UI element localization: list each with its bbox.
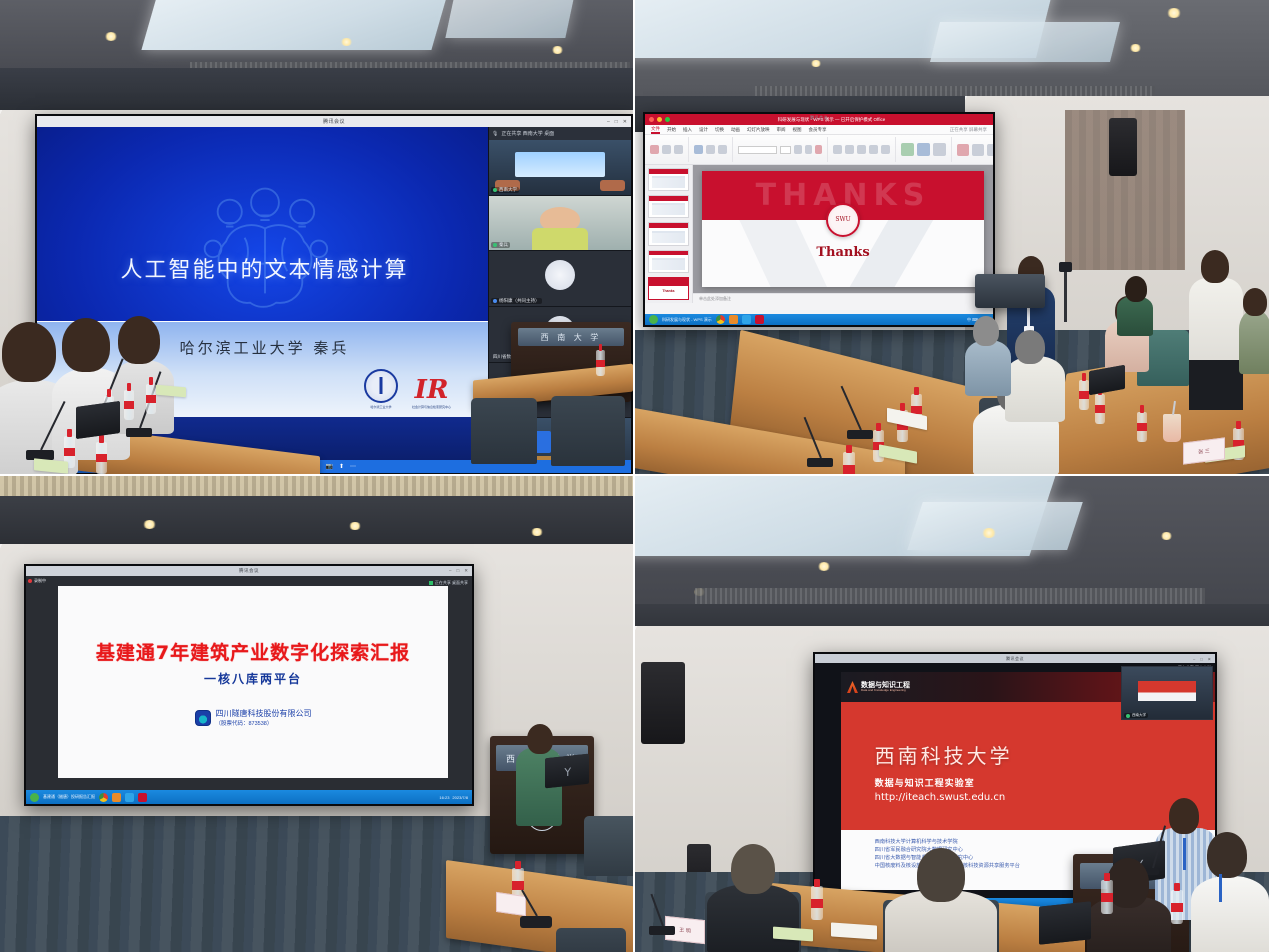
cut-icon[interactable] <box>662 145 671 154</box>
tab-home[interactable]: 开始 <box>667 127 676 133</box>
sharing-badge: 正在共享 屏幕共享 <box>950 127 987 133</box>
downlight <box>551 46 564 54</box>
hit-logo-icon <box>364 369 398 403</box>
skylight <box>907 502 1083 550</box>
audience-head <box>1015 330 1045 364</box>
maximize-icon[interactable]: □ <box>615 119 618 125</box>
company-stock-code: （股票代码：873538） <box>216 719 312 727</box>
audience-person <box>1117 296 1153 336</box>
back-wall <box>0 68 633 110</box>
dke-lab-logo: 数据与知识工程 Data and Knowledge Engineering <box>847 681 910 693</box>
audience-person <box>1191 876 1269 952</box>
water-bottle <box>1137 412 1147 442</box>
line-array-speaker <box>1109 118 1137 176</box>
chair <box>584 816 633 876</box>
slide-thumbnail[interactable] <box>648 168 689 191</box>
desk-microphone <box>520 916 552 928</box>
gooseneck-microphone <box>847 430 873 439</box>
water-bottle <box>146 384 156 414</box>
ribbon-group-paragraph[interactable] <box>833 137 896 162</box>
wps-icon[interactable] <box>112 793 121 802</box>
close-icon[interactable]: ✕ <box>1208 656 1211 661</box>
slide-thumbnail[interactable] <box>648 222 689 245</box>
ribbon-group-slide[interactable] <box>694 137 733 162</box>
bullets-icon[interactable] <box>833 145 842 154</box>
chrome-icon[interactable] <box>99 793 108 802</box>
slide-thumbnail-pane[interactable]: Thanks <box>645 165 693 303</box>
downlight <box>810 60 822 67</box>
system-tray[interactable]: 16:23 2023/7/8 <box>439 795 468 800</box>
maximize-icon[interactable]: □ <box>1200 656 1202 661</box>
audience-person <box>707 884 799 952</box>
tab-slideshow[interactable]: 幻灯片放映 <box>747 127 770 133</box>
water-bottle <box>1101 880 1113 914</box>
numbering-icon[interactable] <box>845 145 854 154</box>
font-size-input[interactable] <box>780 146 792 154</box>
audience-head <box>917 848 965 902</box>
chrome-icon[interactable] <box>716 315 725 324</box>
slide-url: http://iteach.swust.edu.cn <box>875 792 1006 803</box>
slide-thumbnail[interactable] <box>648 250 689 273</box>
shared-slide: 基建通7年建筑产业数字化探索汇报 一核八库两平台 四川隧唐科技股份有限公司 （股… <box>58 586 448 778</box>
taskbar-clock: 16:23 <box>439 795 449 800</box>
water-bottle <box>96 442 107 474</box>
taskbar-date: 2023/7/8 <box>452 795 468 800</box>
powerpoint-icon[interactable] <box>755 315 764 324</box>
laptop: Y <box>545 754 589 789</box>
tab-view[interactable]: 视图 <box>793 127 802 133</box>
participant-name: 杨阳康（共同主持） <box>491 298 542 304</box>
close-icon[interactable]: ✕ <box>464 568 468 574</box>
water-bottle <box>1095 394 1105 424</box>
gooseneck-microphone <box>807 458 833 467</box>
find-icon[interactable] <box>957 144 969 156</box>
audience-head <box>1107 858 1149 908</box>
slide-red-area: 西南科技大学 数据与知识工程实验室 http://iteach.swust.ed… <box>841 702 1215 830</box>
start-icon[interactable] <box>649 315 658 324</box>
camera-icon <box>1059 262 1072 272</box>
mic-status-icon <box>1126 714 1130 718</box>
meeting-titlebar: 腾讯会议 – □ ✕ <box>26 566 472 576</box>
downlight <box>348 522 362 530</box>
company-logo-icon <box>195 710 211 726</box>
minimize-icon[interactable]: – <box>607 119 610 125</box>
replace-icon[interactable] <box>972 144 984 156</box>
font-name-input[interactable] <box>738 146 777 154</box>
select-icon[interactable] <box>987 144 993 156</box>
mic-icon: 🎙 <box>492 131 498 137</box>
panel-swust-lab-intro: 腾讯会议 – □ ✕ 正在共享 西南大学 <box>635 476 1269 952</box>
guest-head <box>1201 250 1229 283</box>
recording-badge: 录制中 <box>28 578 46 584</box>
new-slide-icon[interactable] <box>694 145 703 154</box>
water-bottle <box>843 452 855 474</box>
minimize-icon[interactable]: – <box>449 568 452 574</box>
skylight <box>445 0 574 38</box>
laptop <box>76 401 120 439</box>
meeting-titlebar: 腾讯会议 – □ ✕ <box>815 654 1215 663</box>
current-slide[interactable]: THANKS SWU Thanks <box>702 171 984 286</box>
share-status-icon <box>429 581 433 585</box>
picture-icon[interactable] <box>901 143 914 156</box>
laptop-logo-icon: Y <box>564 765 571 779</box>
align-right-icon[interactable] <box>881 145 890 154</box>
copy-icon[interactable] <box>674 145 683 154</box>
slide-title: 基建通7年建筑产业数字化探索汇报 <box>58 638 448 665</box>
sharing-banner: 🎙 正在共享 西南大学 桌面 <box>489 127 631 140</box>
water-bottle <box>1079 380 1089 410</box>
slide-subtitle: 一核八库两平台 <box>58 670 448 687</box>
start-icon[interactable] <box>30 793 39 802</box>
ribbon-toolbar[interactable] <box>645 135 993 165</box>
minimize-icon[interactable]: – <box>1193 656 1195 661</box>
tab-transitions[interactable]: 切换 <box>715 127 724 133</box>
slide-editing-stage[interactable]: THANKS SWU Thanks <box>693 165 993 293</box>
participant-tile[interactable]: 秦兵 <box>489 196 631 252</box>
audience-head <box>118 316 160 364</box>
textbox-icon[interactable] <box>933 143 946 156</box>
meeting-titlebar: 腾讯会议 – □ ✕ <box>37 116 631 127</box>
line-array-speaker <box>641 662 685 744</box>
company-name: 四川隧唐科技股份有限公司 <box>216 709 312 719</box>
wps-icon[interactable] <box>729 315 738 324</box>
audience-head <box>731 844 775 894</box>
mic-status-icon <box>493 299 497 303</box>
hit-logo-caption: 哈尔滨工业大学 <box>364 405 398 409</box>
chair <box>551 396 625 466</box>
downlight <box>340 38 353 46</box>
presentation-screen: 科研发展与现状 - WPS 演示 — 已开启保护模式 Office 腾讯会议 文… <box>643 112 995 327</box>
panel-ppt-thanks-qa: 科研发展与现状 - WPS 演示 — 已开启保护模式 Office 腾讯会议 文… <box>635 0 1269 474</box>
water-bottle <box>124 390 134 420</box>
align-left-icon[interactable] <box>857 145 866 154</box>
downlight <box>1129 44 1142 52</box>
record-dot-icon <box>28 579 32 583</box>
participant-name: 西南大学 <box>491 187 519 193</box>
podium <box>975 274 1045 308</box>
browser-icon[interactable] <box>742 315 751 324</box>
bold-icon[interactable] <box>794 145 801 154</box>
downlight <box>1160 532 1173 540</box>
sharing-banner-text: 正在共享 西南大学 桌面 <box>501 130 554 137</box>
presenter-head <box>527 724 553 754</box>
window-title: 腾讯会议 <box>323 118 345 125</box>
presenter-head <box>1169 798 1199 834</box>
audience-person <box>1005 356 1065 422</box>
drink-cup <box>1163 414 1181 442</box>
paste-icon[interactable] <box>650 145 659 154</box>
audience-person <box>1239 310 1269 374</box>
dke-name-en: Data and Knowledge Engineering <box>861 689 910 692</box>
university-seal-icon: SWU <box>826 203 860 237</box>
photo-collage: 腾讯会议 – □ ✕ <box>0 0 1269 952</box>
tab-file[interactable]: 文件 <box>651 126 660 134</box>
close-icon[interactable]: ✕ <box>623 119 627 125</box>
back-wall <box>0 496 633 544</box>
skylight <box>930 22 1120 62</box>
chair <box>471 398 537 464</box>
windows-taskbar[interactable]: 科研发展与现状 - WPS 演示 中 ⌨ 🔊 ▲ <box>645 314 993 325</box>
window-title: 腾讯会议 <box>239 568 259 574</box>
water-bottle <box>596 350 605 376</box>
audience-head <box>973 316 999 346</box>
guest-trousers <box>1189 360 1243 410</box>
align-center-icon[interactable] <box>869 145 878 154</box>
ribbon-group-font[interactable] <box>738 137 828 162</box>
slide-title: 人工智能中的文本情感计算 <box>37 252 492 284</box>
lanyard <box>1219 874 1222 902</box>
chair <box>556 928 626 952</box>
pip-video-tile[interactable]: 西南大学 <box>1121 666 1213 720</box>
skylight <box>141 0 448 50</box>
more-icon[interactable]: ⋯ <box>350 463 356 470</box>
downlight <box>1166 8 1182 18</box>
section-icon[interactable] <box>718 145 727 154</box>
taskbar-window-label[interactable]: 科研发展与现状 - WPS 演示 <box>662 317 712 323</box>
ir-logo-caption: 社会计算与信息检索研究中心 <box>412 405 451 409</box>
tab-insert[interactable]: 插入 <box>683 127 692 133</box>
audience-head <box>62 318 110 372</box>
ribbon-group-paste[interactable] <box>650 137 689 162</box>
panel-hit-sentiment-talk: 腾讯会议 – □ ✕ <box>0 0 633 474</box>
italic-icon[interactable] <box>805 145 812 154</box>
ceiling-grill <box>0 476 633 498</box>
mic-status-icon <box>493 243 497 247</box>
water-bottle <box>811 886 823 920</box>
tab-review[interactable]: 审阅 <box>777 127 786 133</box>
browser-icon[interactable] <box>125 793 134 802</box>
slide-lab-name: 数据与知识工程实验室 <box>875 776 975 789</box>
font-color-icon[interactable] <box>815 145 822 154</box>
ir-logo-icon: IR <box>412 377 451 403</box>
slide-thumbnail-selected[interactable]: Thanks <box>648 277 689 300</box>
audience-head <box>1207 832 1247 878</box>
layout-icon[interactable] <box>706 145 715 154</box>
audience-head <box>1243 288 1267 316</box>
participant-tile[interactable]: 杨阳康（共同主持） <box>489 251 631 307</box>
downlight <box>104 32 118 41</box>
slide-logos: 哈尔滨工业大学 IR 社会计算与信息检索研究中心 <box>364 369 451 409</box>
downlight <box>530 528 544 536</box>
tab-design[interactable]: 设计 <box>699 127 708 133</box>
participant-tile[interactable]: 西南大学 <box>489 140 631 196</box>
tripod <box>1064 272 1067 322</box>
downlight <box>817 562 831 571</box>
panel-jijiantong-report: 腾讯会议 – □ ✕ 录制中 正在共享 桌面共享 基建通7年建筑产业数 <box>0 476 633 952</box>
dke-logo-icon <box>847 681 858 693</box>
mic-status-icon <box>493 188 497 192</box>
lanyard <box>1183 838 1186 870</box>
ir-logo-group: IR 社会计算与信息检索研究中心 <box>412 377 451 409</box>
camera-icon[interactable]: 📷 <box>325 463 332 470</box>
ribbon-group-edit[interactable] <box>957 137 993 162</box>
water-bottle <box>1171 890 1183 924</box>
slide-university: 西南科技大学 <box>875 740 1013 769</box>
avatar <box>545 260 575 290</box>
notes-pane[interactable]: 单击此处添加备注 <box>693 293 993 314</box>
window-title: 腾讯会议 <box>1006 656 1024 662</box>
tab-animations[interactable]: 动画 <box>731 127 740 133</box>
pip-participant-name: 西南大学 <box>1124 713 1148 718</box>
windows-taskbar[interactable]: 基建通（隧唐）投研报告汇报 16:23 2023/7/8 <box>26 790 472 804</box>
share-titlebar: 腾讯会议 <box>645 114 993 122</box>
name-card <box>496 892 526 916</box>
gooseneck-microphone <box>649 926 675 935</box>
window-title: 腾讯会议 <box>810 115 828 121</box>
share-icon[interactable]: ⬆ <box>339 463 344 470</box>
laptop <box>1039 901 1091 944</box>
thumbnail-label: Thanks <box>649 289 688 293</box>
audience-person <box>965 340 1011 396</box>
hit-logo-group: 哈尔滨工业大学 <box>364 369 398 409</box>
ribbon-tabs[interactable]: 文件 开始 插入 设计 切换 动画 幻灯片放映 审阅 视图 会员专享 正在共享 … <box>645 125 993 135</box>
maximize-icon[interactable]: □ <box>457 568 460 574</box>
downlight <box>981 528 997 538</box>
gooseneck-microphone <box>126 428 152 437</box>
tab-member[interactable]: 会员专享 <box>809 127 827 133</box>
powerpoint-icon[interactable] <box>138 793 147 802</box>
presentation-screen: 腾讯会议 – □ ✕ 录制中 正在共享 桌面共享 基建通7年建筑产业数 <box>24 564 474 806</box>
ribbon-group-insert[interactable] <box>901 137 952 162</box>
slide-company-block: 四川隧唐科技股份有限公司 （股票代码：873538） <box>58 709 448 727</box>
podium-nameplate: 西 南 大 学 <box>518 328 624 346</box>
audience-person <box>112 360 174 434</box>
participant-name: 秦兵 <box>491 242 510 248</box>
audience-head <box>2 322 56 382</box>
audience-head <box>1125 276 1147 302</box>
downlight <box>142 520 157 529</box>
slide-thumbnail[interactable] <box>648 195 689 218</box>
taskbar-window-label[interactable]: 基建通（隧唐）投研报告汇报 <box>43 794 95 800</box>
thanks-text: Thanks <box>702 245 984 260</box>
shapes-icon[interactable] <box>917 143 930 156</box>
